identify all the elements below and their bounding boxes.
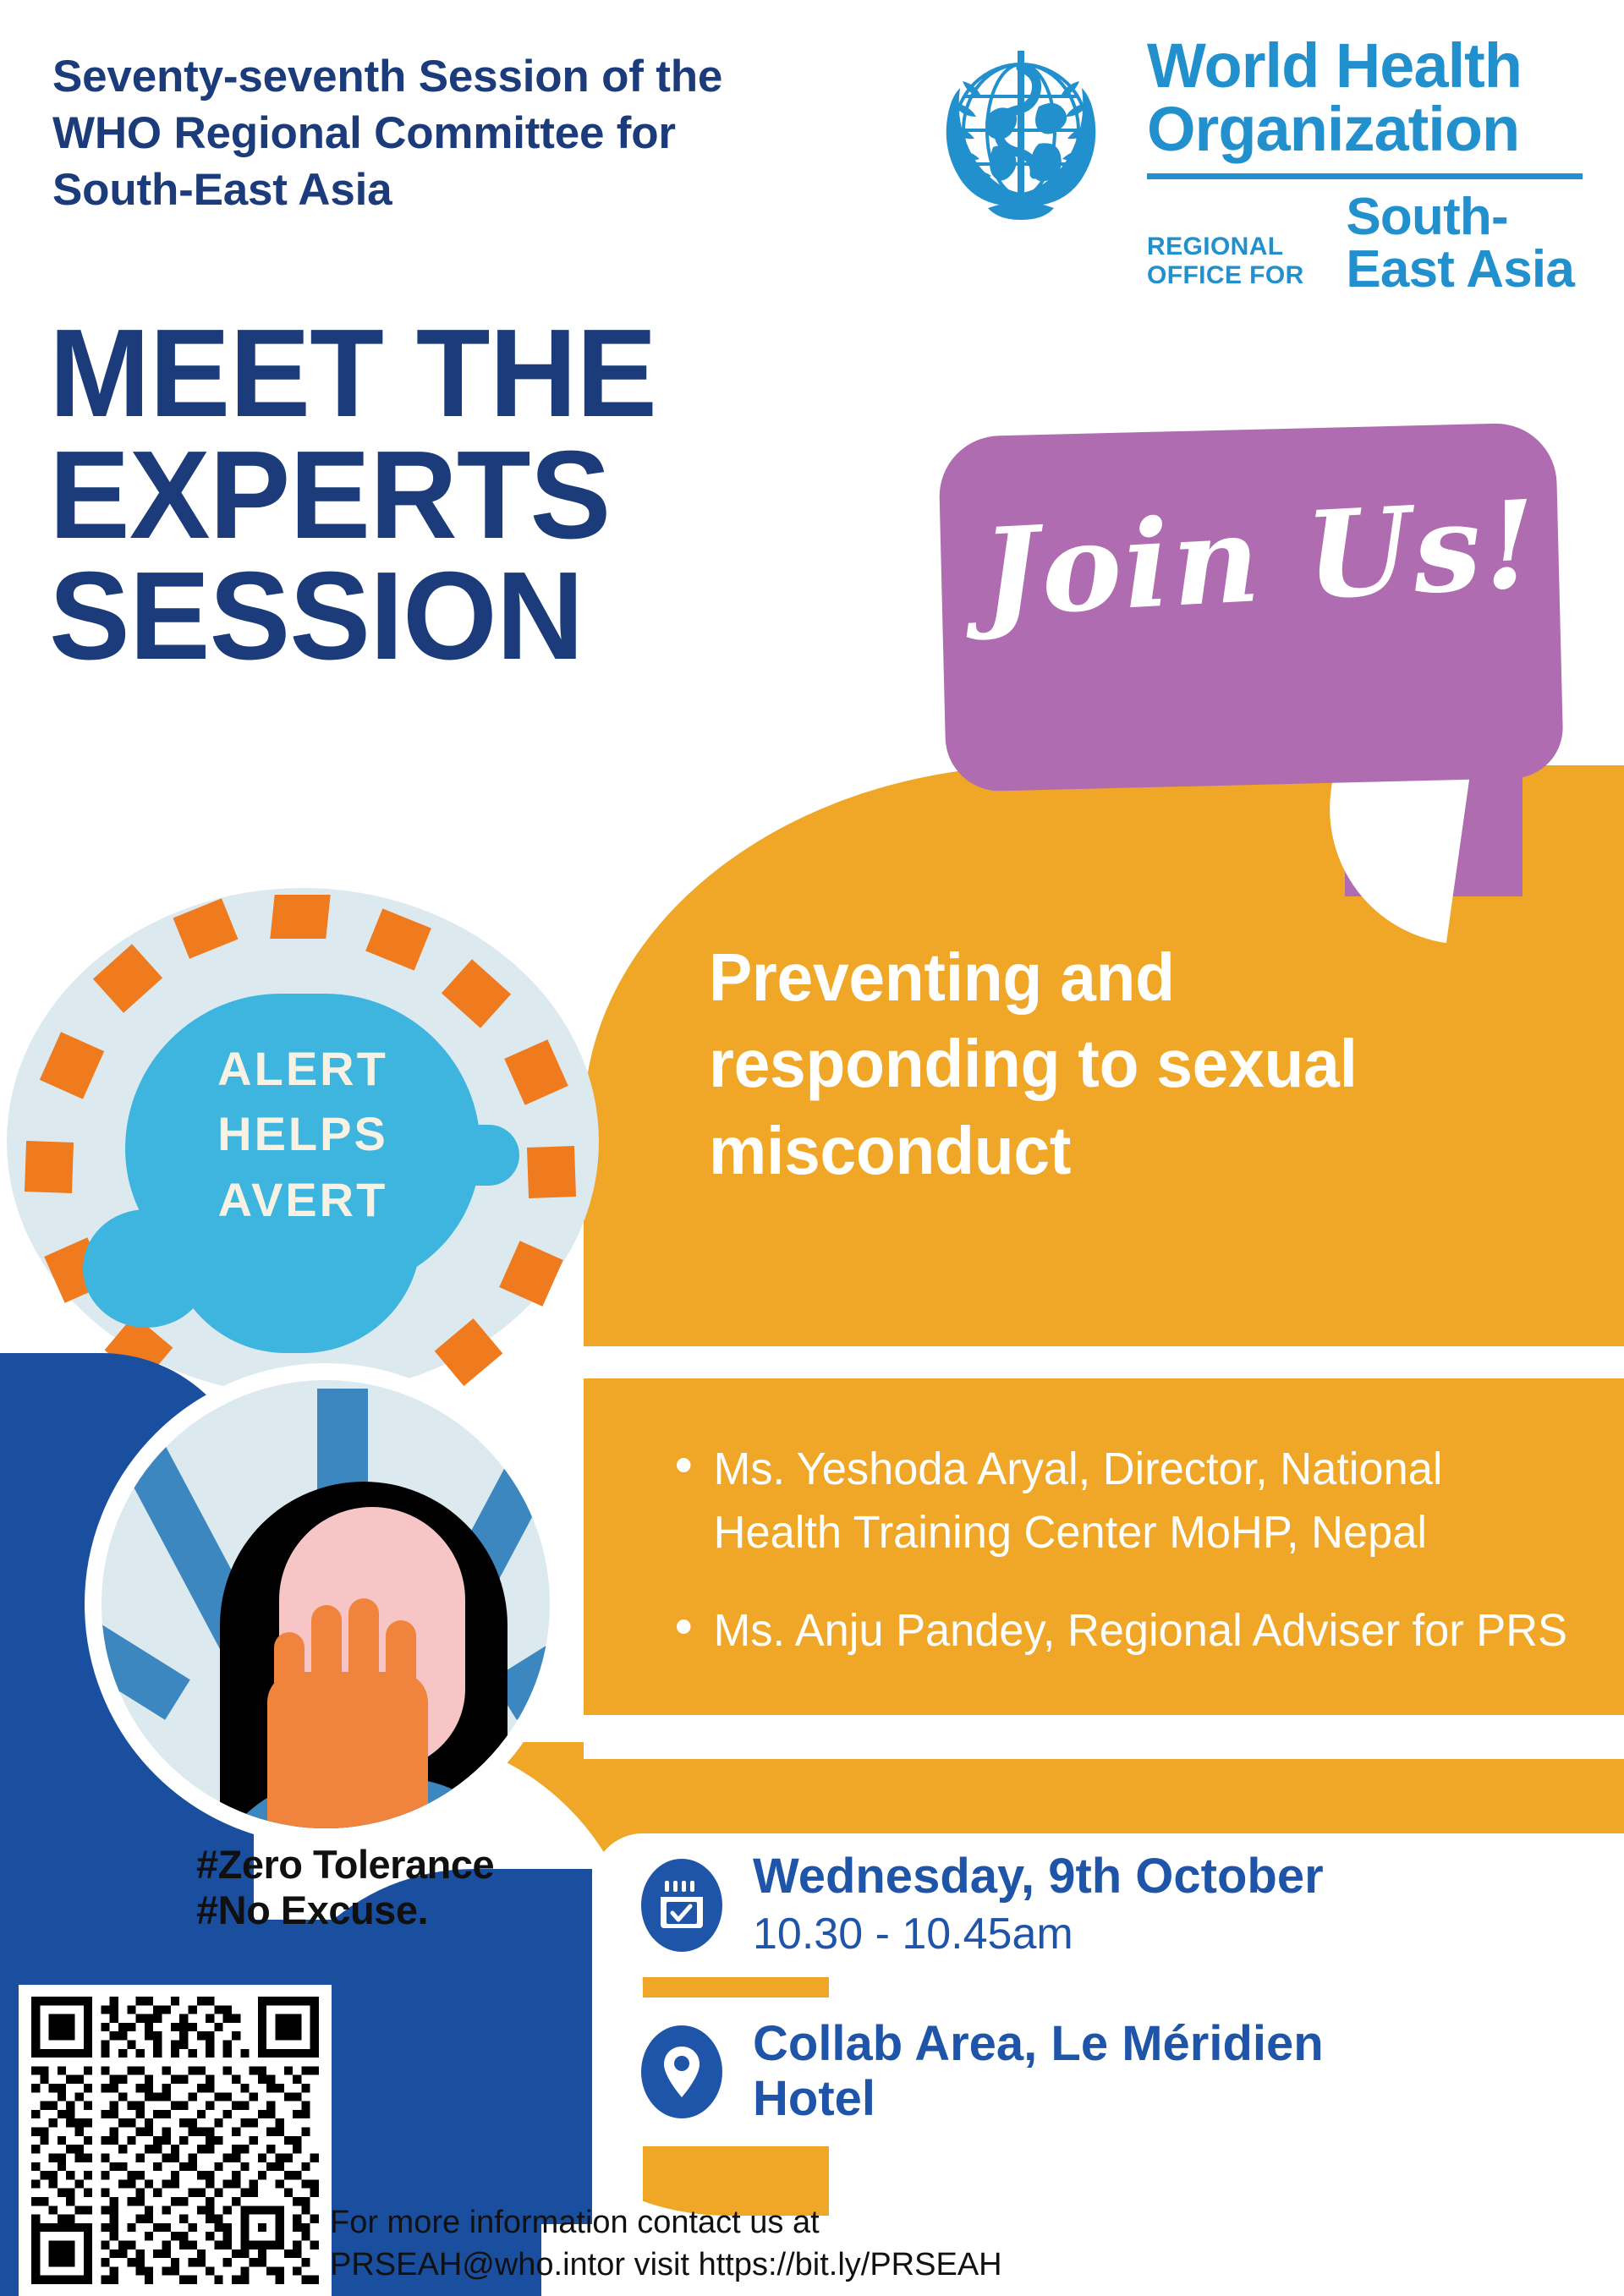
- event-date-primary: Wednesday, 9th October: [753, 1849, 1324, 1904]
- badge-tick: [25, 1141, 74, 1193]
- footer-line-2: PRSEAH@who.intor visit https://bit.ly/PR…: [330, 2244, 1091, 2286]
- header-line-2: WHO Regional Committee for: [52, 106, 814, 162]
- list-item: Ms. Yeshoda Aryal, Director, National He…: [677, 1438, 1588, 1564]
- header-line-1: Seventy-seventh Session of the: [52, 49, 814, 106]
- poster-canvas: Seventy-seventh Session of the WHO Regio…: [0, 0, 1624, 2296]
- page-title: MEET THE EXPERTS SESSION: [49, 313, 878, 677]
- bullet-icon: [677, 1458, 690, 1472]
- hashtag-block: #Zero Tolerance #No Excuse.: [196, 1842, 551, 1932]
- event-date-pill: Wednesday, 9th October 10.30 - 10.45am: [592, 1833, 1624, 1977]
- alert-helps-avert-badge: ALERT HELPS AVERT: [7, 888, 599, 1395]
- list-item: Ms. Anju Pandey, Regional Adviser for PR…: [677, 1599, 1588, 1663]
- event-location-secondary: Hotel: [753, 2072, 1324, 2127]
- hashtag-line-1: #Zero Tolerance: [196, 1842, 551, 1888]
- stop-hand-icon: [267, 1592, 428, 1845]
- event-date-text: Wednesday, 9th October 10.30 - 10.45am: [753, 1849, 1324, 1960]
- topic-line-2: responding to sexual: [709, 1021, 1545, 1107]
- speaker-2-text: Ms. Anju Pandey, Regional Adviser for PR…: [714, 1599, 1567, 1663]
- hashtag-line-2: #No Excuse.: [196, 1888, 551, 1933]
- event-location-primary: Collab Area, Le Méridien: [753, 2017, 1324, 2072]
- who-name-line-2: Organization: [1147, 99, 1587, 161]
- stop-harassment-illustration: [85, 1363, 567, 1845]
- topic-line-1: Preventing and: [709, 934, 1545, 1021]
- event-session-header: Seventy-seventh Session of the WHO Regio…: [52, 49, 814, 218]
- hand-palm: [267, 1672, 428, 1845]
- who-emblem-icon: [912, 39, 1130, 250]
- badge-tick: [270, 895, 330, 939]
- title-line-2: EXPERTS: [49, 435, 878, 556]
- speaker-2-line-1: Ms. Anju Pandey, Regional Adviser for PR…: [714, 1599, 1567, 1663]
- who-wordmark: World Health Organization REGIONAL OFFIC…: [1147, 36, 1587, 296]
- event-date-secondary: 10.30 - 10.45am: [753, 1908, 1324, 1960]
- qr-code[interactable]: [19, 1985, 332, 2296]
- panel-divider-lower: [584, 1715, 1624, 1759]
- who-divider: [1147, 173, 1583, 179]
- badge-tick: [527, 1146, 576, 1198]
- header-line-3: South-East Asia: [52, 162, 814, 219]
- panel-divider-upper: [584, 1346, 1624, 1378]
- who-logo: World Health Organization REGIONAL OFFIC…: [912, 36, 1584, 281]
- badge-line-2: HELPS: [134, 1101, 472, 1166]
- session-topic: Preventing and responding to sexual misc…: [709, 934, 1545, 1194]
- event-location-text: Collab Area, Le Méridien Hotel: [753, 2017, 1324, 2127]
- speaker-1-line-1: Ms. Yeshoda Aryal, Director, National: [714, 1438, 1443, 1501]
- bullet-icon: [677, 1619, 690, 1634]
- contact-footer: For more information contact us at PRSEA…: [330, 2201, 1091, 2286]
- event-location-pill: Collab Area, Le Méridien Hotel: [592, 1997, 1624, 2146]
- title-line-1: MEET THE: [49, 313, 878, 435]
- who-region-name: South-East Asia: [1346, 191, 1587, 296]
- map-pin-icon: [641, 2025, 722, 2118]
- footer-line-1: For more information contact us at: [330, 2201, 1091, 2244]
- speaker-list: Ms. Yeshoda Aryal, Director, National He…: [677, 1438, 1616, 1698]
- topic-line-3: misconduct: [709, 1108, 1545, 1194]
- calendar-check-icon: [641, 1859, 722, 1952]
- badge-line-1: ALERT: [134, 1036, 472, 1101]
- speaker-1-line-2: Health Training Center MoHP, Nepal: [714, 1501, 1443, 1564]
- who-regional-label: REGIONAL OFFICE FOR: [1147, 233, 1332, 296]
- badge-text: ALERT HELPS AVERT: [134, 1036, 472, 1232]
- badge-line-3: AVERT: [134, 1167, 472, 1232]
- speaker-1-text: Ms. Yeshoda Aryal, Director, National He…: [714, 1438, 1443, 1564]
- join-us-text: Join Us!: [979, 485, 1543, 633]
- who-name-line-1: World Health: [1147, 36, 1587, 97]
- title-line-3: SESSION: [49, 556, 878, 677]
